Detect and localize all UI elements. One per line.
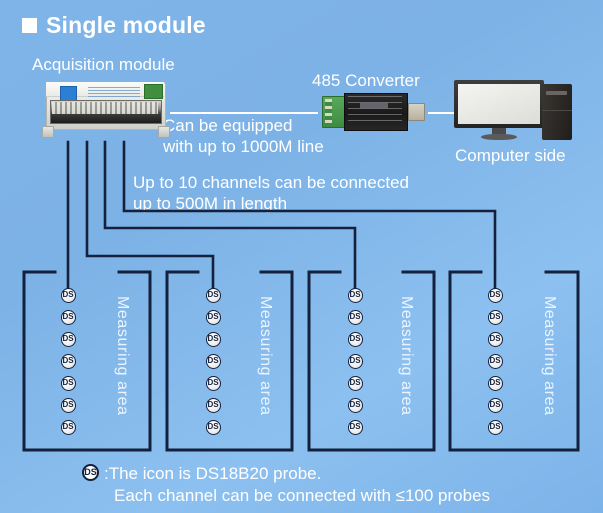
ds-probe: DS: [206, 332, 221, 347]
page-title: Single module: [22, 14, 206, 37]
ds-probe: DS: [348, 376, 363, 391]
converter-pcb-silkscreen: [348, 96, 402, 126]
ds-probe: DS: [488, 398, 503, 413]
measuring-area-tanks: [0, 0, 603, 513]
acquisition-module-label: Acquisition module: [32, 54, 175, 75]
monitor-base: [481, 134, 517, 140]
ds-probe: DS: [488, 376, 503, 391]
ds-probe: DS: [206, 376, 221, 391]
tank-1: [24, 272, 150, 450]
ds-probe: DS: [61, 398, 76, 413]
ds-probe: DS: [488, 354, 503, 369]
ds-probe: DS: [348, 420, 363, 435]
ds-probe: DS: [348, 288, 363, 303]
module-green-connector: [144, 84, 163, 99]
measuring-area-label-4: Measuring area: [540, 296, 558, 416]
converter-label: 485 Converter: [312, 70, 420, 91]
module-terminal-screws: [52, 102, 158, 114]
wire-routing: [0, 0, 603, 513]
tower-drive-slot: [546, 91, 567, 95]
ds-probe: DS: [206, 310, 221, 325]
ds-probe: DS: [488, 310, 503, 325]
ds-probe: DS: [348, 354, 363, 369]
monitor-screen: [458, 84, 540, 124]
ds-probe: DS: [206, 288, 221, 303]
note-channels: Up to 10 channels can be connected up to…: [133, 172, 409, 214]
wire-channel-2: [87, 142, 213, 292]
tank-3: [309, 272, 434, 450]
diagram-canvas: Single module Acquisition module 485 Con…: [0, 0, 603, 513]
ds-probe: DS: [488, 420, 503, 435]
tower-seam: [542, 110, 572, 111]
ds-probe: DS: [61, 354, 76, 369]
link-module-to-converter: [170, 112, 318, 114]
ds-probe: DS: [488, 288, 503, 303]
wire-channel-4: [124, 142, 495, 292]
tank-4: [450, 272, 578, 450]
ds-probe: DS: [61, 420, 76, 435]
ds-probe: DS: [206, 354, 221, 369]
485-converter: [322, 92, 430, 130]
ds-probe: DS: [488, 332, 503, 347]
ds-probe-icon: DS: [82, 464, 99, 481]
converter-usb-connector: [408, 103, 425, 121]
note-rs485-line: Can be equipped with up to 1000M line: [163, 115, 324, 157]
acquisition-module: [40, 82, 170, 142]
ds-probe: DS: [61, 310, 76, 325]
legend-line-2: Each channel can be connected with ≤100 …: [114, 485, 490, 506]
title-text: Single module: [46, 14, 206, 37]
module-foot-right: [158, 126, 170, 138]
legend-line-1: :The icon is DS18B20 probe.: [104, 463, 321, 484]
ds-probe: DS: [206, 398, 221, 413]
ds-probe: DS: [348, 398, 363, 413]
square-bullet-icon: [22, 18, 37, 33]
converter-chip: [360, 102, 388, 109]
module-printing: [88, 87, 140, 97]
ds-probe: DS: [206, 420, 221, 435]
module-foot-left: [42, 126, 54, 138]
ds-probe: DS: [348, 310, 363, 325]
ds-probe: DS: [61, 288, 76, 303]
wire-channel-3: [105, 142, 355, 292]
computer-label: Computer side: [455, 145, 566, 166]
measuring-area-label-2: Measuring area: [256, 296, 274, 416]
ds-probe: DS: [61, 332, 76, 347]
measuring-area-label-3: Measuring area: [397, 296, 415, 416]
ds-probe: DS: [348, 332, 363, 347]
ds-probe: DS: [61, 376, 76, 391]
computer: [454, 80, 574, 142]
measuring-area-label-1: Measuring area: [113, 296, 131, 416]
converter-terminal-block: [322, 96, 346, 128]
